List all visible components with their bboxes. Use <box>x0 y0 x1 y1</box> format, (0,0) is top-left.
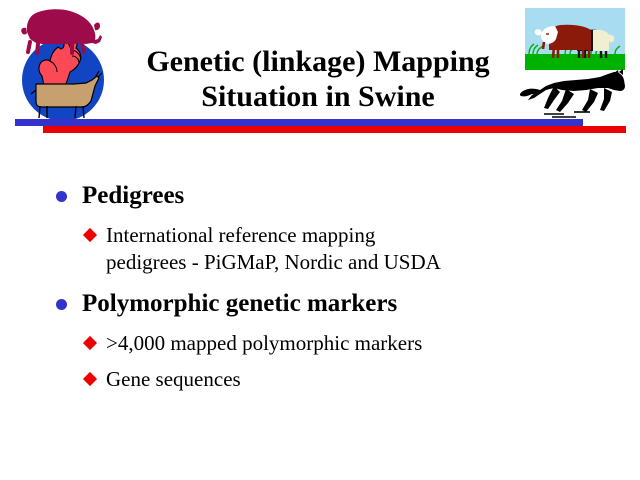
title-line-2: Situation in Swine <box>88 79 548 114</box>
sub-bullet-international-pedigrees: International reference mapping pedigree… <box>0 222 640 276</box>
slide-header: Genetic (linkage) Mapping Situation in S… <box>0 0 640 140</box>
sub-bullet-line-1: International reference mapping <box>106 222 640 249</box>
sub-bullet-line-2: pedigrees - PiGMaP, Nordic and USDA <box>106 249 640 276</box>
blue-dot-icon <box>56 191 67 202</box>
sub-bullet-text: International reference mapping pedigree… <box>106 222 640 276</box>
sub-bullet-mapped-markers: >4,000 mapped polymorphic markers <box>0 330 640 357</box>
bullet-label: Polymorphic genetic markers <box>82 288 397 320</box>
sub-bullet-gene-sequences: Gene sequences <box>0 366 640 393</box>
sub-bullet-text: >4,000 mapped polymorphic markers <box>106 330 640 357</box>
red-diamond-icon <box>83 336 97 350</box>
slide-canvas: Genetic (linkage) Mapping Situation in S… <box>0 0 640 480</box>
bullet-item-polymorphic-markers: Polymorphic genetic markers <box>0 288 640 320</box>
title-line-1: Genetic (linkage) Mapping <box>88 44 548 79</box>
divider-bar-red <box>43 126 626 133</box>
sub-bullet-text: Gene sequences <box>106 366 640 393</box>
bullet-item-pedigrees: Pedigrees <box>0 180 640 212</box>
red-diamond-icon <box>83 228 97 242</box>
bullet-label: Pedigrees <box>82 180 184 212</box>
sub-bullet-line-1: Gene sequences <box>106 366 640 393</box>
motion-lines <box>544 112 590 117</box>
sub-bullet-line-1: >4,000 mapped polymorphic markers <box>106 330 640 357</box>
slide-body: Pedigrees International reference mappin… <box>0 180 640 393</box>
red-diamond-icon <box>83 372 97 386</box>
divider-bar-blue <box>15 119 583 126</box>
page-title: Genetic (linkage) Mapping Situation in S… <box>88 44 548 114</box>
blue-dot-icon <box>56 299 67 310</box>
